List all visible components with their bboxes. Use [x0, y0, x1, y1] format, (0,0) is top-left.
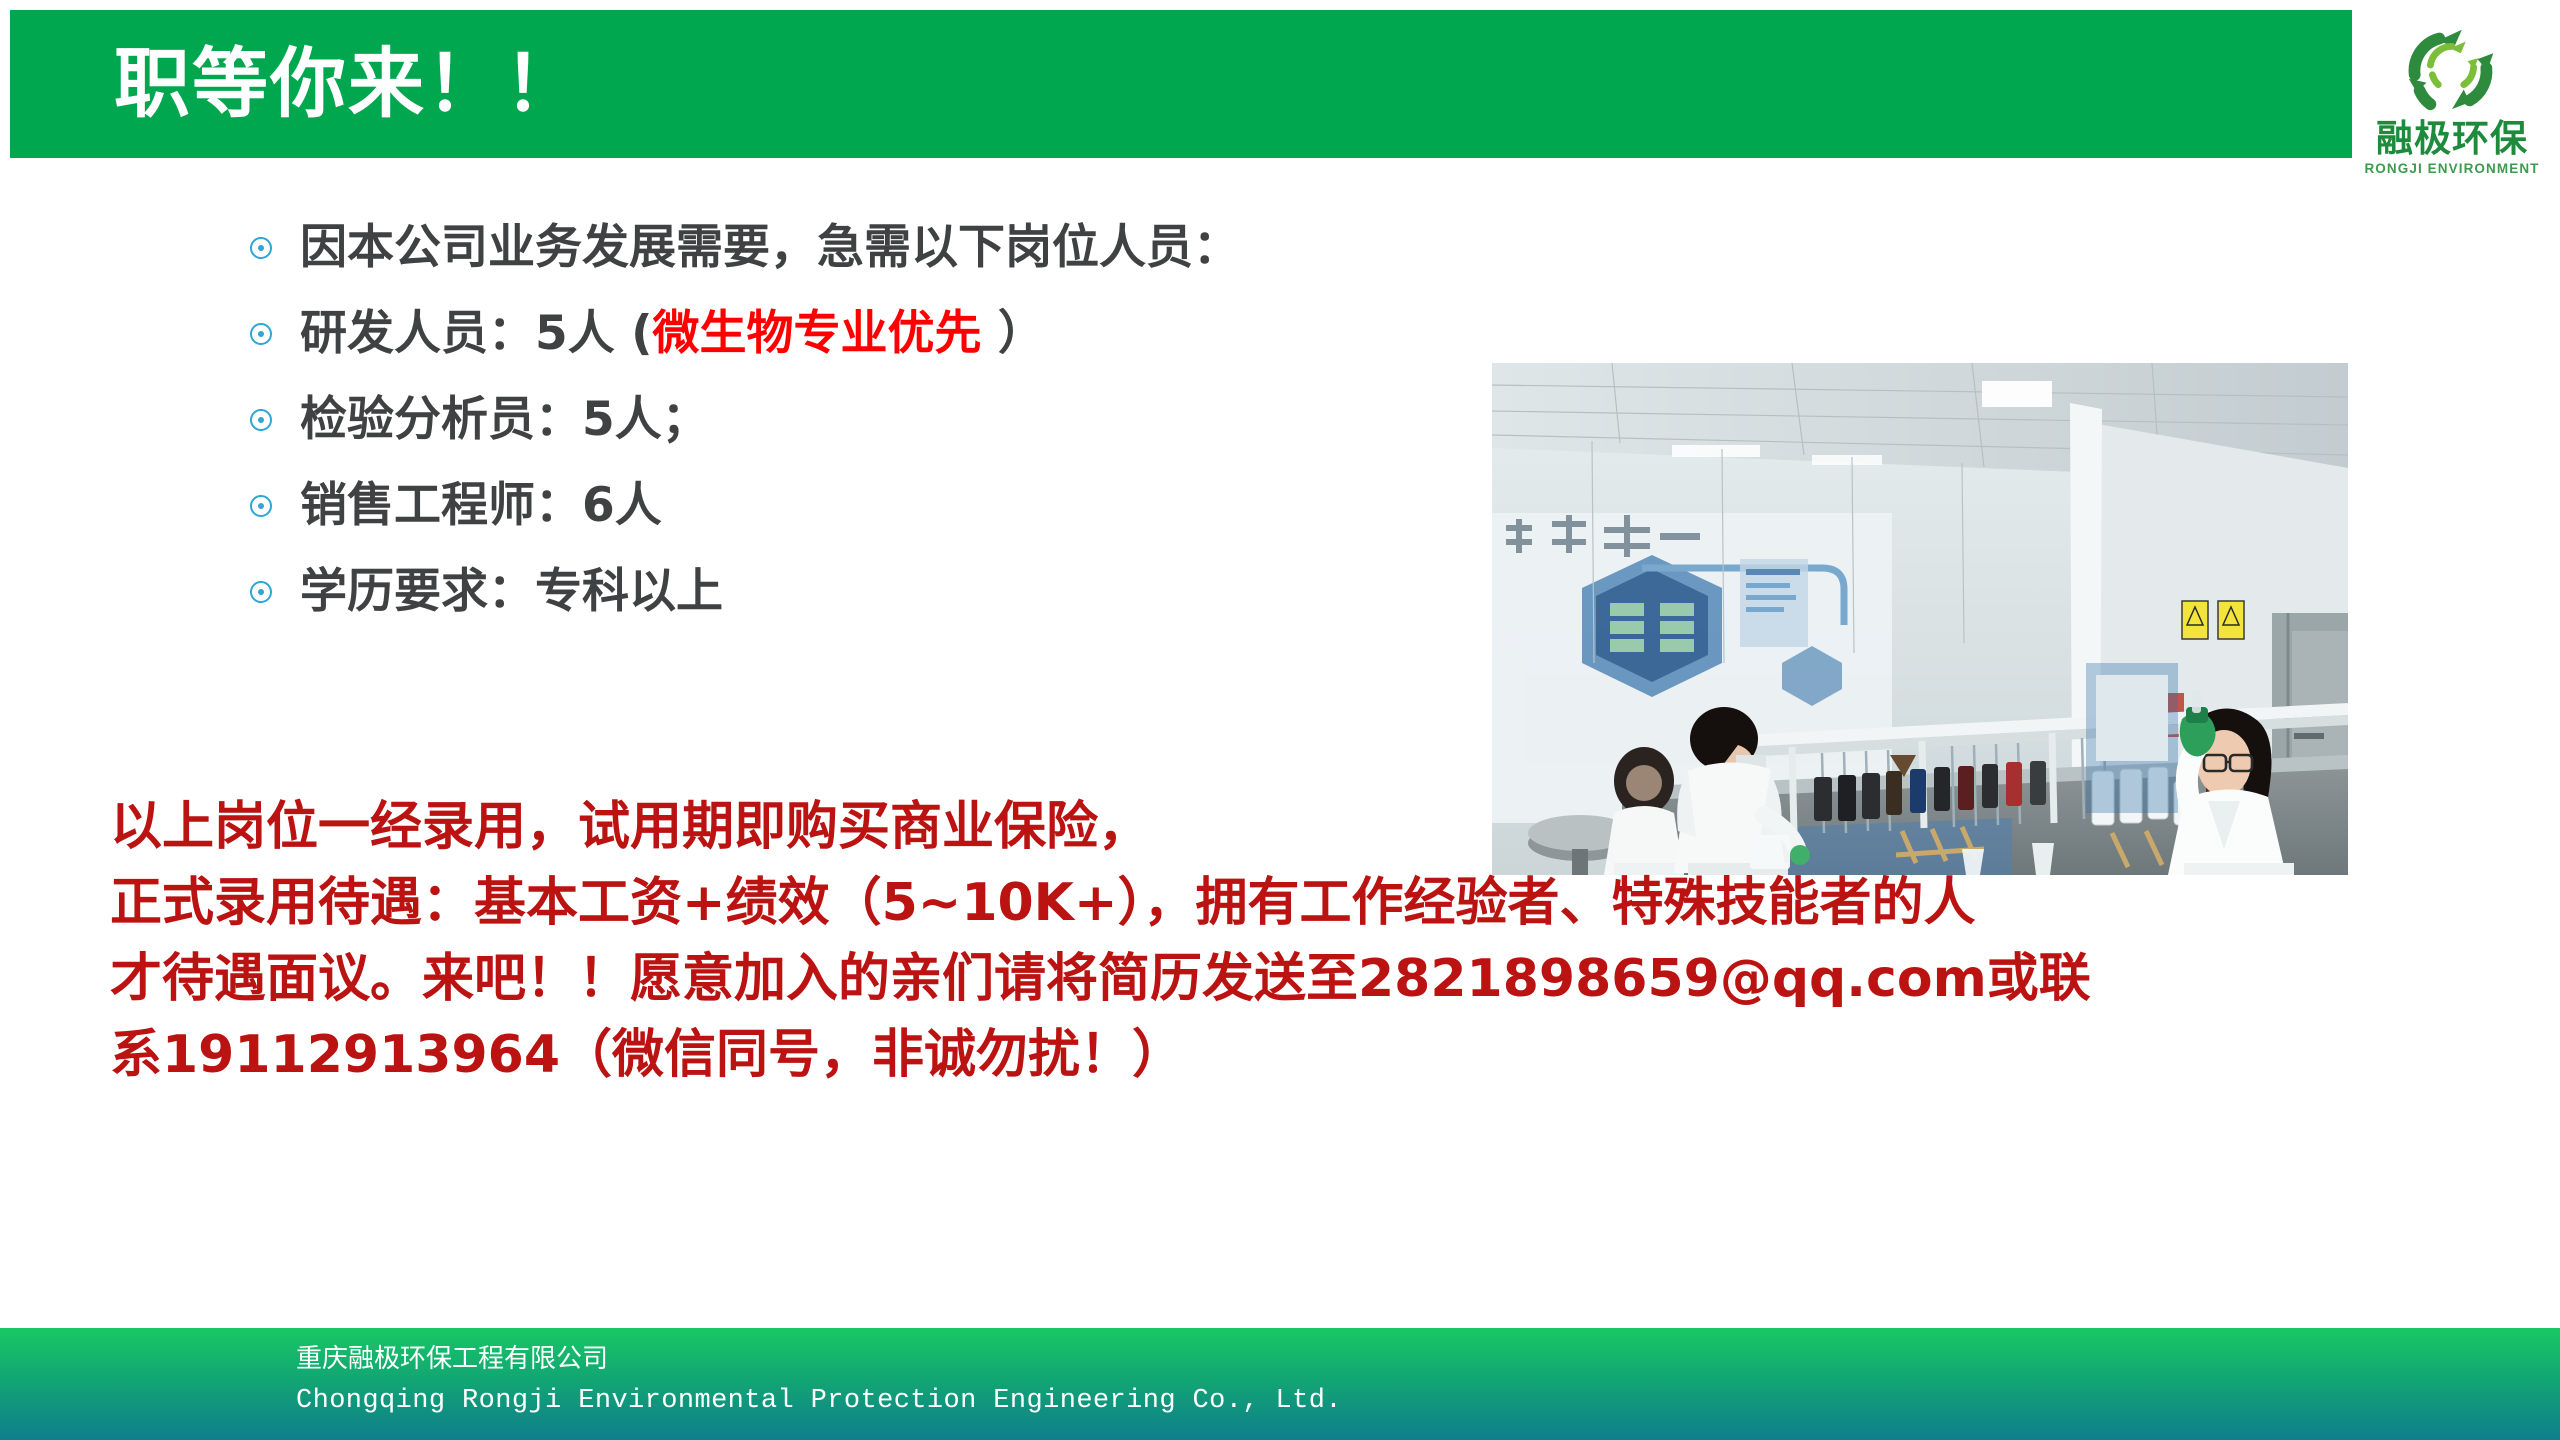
list-item-label: 销售工程师：6人	[300, 480, 662, 532]
job-requirements-list: 因本公司业务发展需要，急需以下岗位人员： 研发人员：5人 (微生物专业优先 ） …	[250, 205, 1550, 635]
circled-dot-bullet-icon	[250, 323, 272, 345]
circled-dot-bullet-icon	[250, 237, 272, 259]
recruitment-notice: 以上岗位一经录用，试用期即购买商业保险， 正式录用待遇：基本工资+绩效（5~10…	[110, 790, 2510, 1094]
list-item-label: 学历要求：专科以上	[300, 566, 723, 618]
header-banner: 职等你来！！	[10, 10, 2550, 158]
recycle-circle-icon	[2393, 14, 2511, 118]
page-title: 职等你来！！	[114, 46, 582, 122]
circled-dot-bullet-icon	[250, 409, 272, 431]
list-item-label: 研发人员：5人 (微生物专业优先 ）	[300, 308, 1045, 360]
list-item-highlight: 微生物专业优先	[653, 306, 982, 361]
list-item-label: 因本公司业务发展需要，急需以下岗位人员：	[300, 222, 1240, 274]
list-item: 研发人员：5人 (微生物专业优先 ）	[250, 291, 1550, 377]
circled-dot-bullet-icon	[250, 581, 272, 603]
logo-name-en: RONGJI ENVIRONMENT	[2364, 162, 2539, 176]
footer-bar: 重庆融极环保工程有限公司 Chongqing Rongji Environmen…	[0, 1328, 2560, 1440]
company-logo: 融极环保 RONGJI ENVIRONMENT	[2352, 4, 2552, 206]
footer-company-en: Chongqing Rongji Environmental Protectio…	[296, 1388, 1342, 1415]
notice-line: 系19112913964（微信同号，非诚勿扰！）	[110, 1018, 2510, 1094]
notice-line: 才待遇面议。来吧！！愿意加入的亲们请将简历发送至2821898659@qq.co…	[110, 942, 2510, 1018]
list-item: 销售工程师：6人	[250, 463, 1550, 549]
list-item: 因本公司业务发展需要，急需以下岗位人员：	[250, 205, 1550, 291]
list-item: 检验分析员：5人；	[250, 377, 1550, 463]
list-item: 学历要求：专科以上	[250, 549, 1550, 635]
notice-line: 正式录用待遇：基本工资+绩效（5~10K+），拥有工作经验者、特殊技能者的人	[110, 866, 2510, 942]
list-item-text: 研发人员：5人 (	[300, 306, 653, 361]
logo-name-cn: 融极环保	[2376, 120, 2528, 157]
footer-company-cn: 重庆融极环保工程有限公司	[296, 1346, 608, 1372]
circled-dot-bullet-icon	[250, 495, 272, 517]
list-item-tail: ）	[982, 306, 1045, 361]
list-item-label: 检验分析员：5人；	[300, 394, 709, 446]
notice-line: 以上岗位一经录用，试用期即购买商业保险，	[110, 790, 2510, 866]
